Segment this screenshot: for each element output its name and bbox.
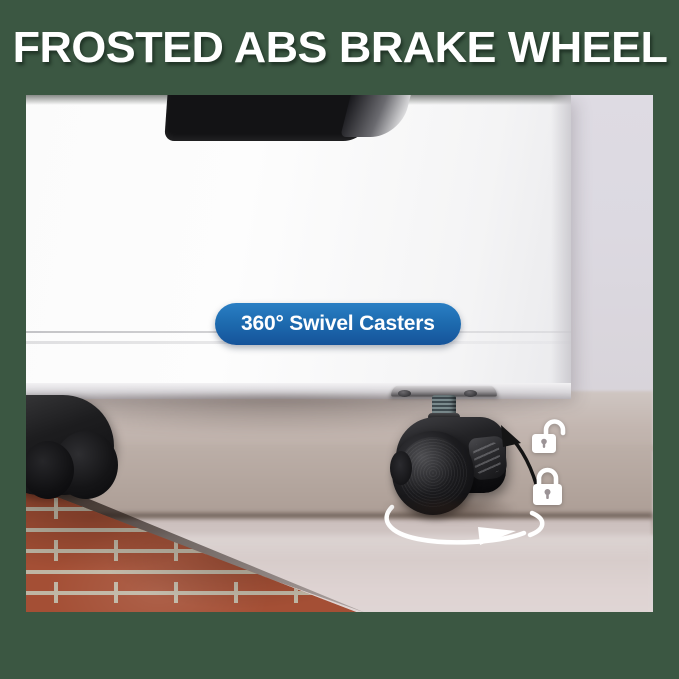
poster-title-bar: FROSTED ABS BRAKE WHEEL [0, 0, 679, 95]
unlock-icon [526, 417, 570, 461]
white-cabinet [26, 95, 571, 395]
product-feature-poster: FROSTED ABS BRAKE WHEEL [0, 0, 679, 679]
caster-left-partial [28, 395, 144, 503]
caster-wheel-hub [390, 451, 412, 485]
drawer-pull-highlight [340, 95, 411, 137]
status-badge-label: 360° Swivel Casters [241, 312, 435, 336]
page-title: FROSTED ABS BRAKE WHEEL [12, 23, 667, 73]
status-badge: 360° Swivel Casters [215, 303, 461, 345]
caster-mount-bolt-left [398, 390, 411, 397]
product-photo: 360° Swivel Casters [26, 95, 653, 612]
cabinet-right-edge [551, 95, 571, 395]
caster-mount-bolt-right [464, 390, 477, 397]
lock-icon [528, 465, 572, 511]
caster-contact-shadow [382, 499, 518, 523]
